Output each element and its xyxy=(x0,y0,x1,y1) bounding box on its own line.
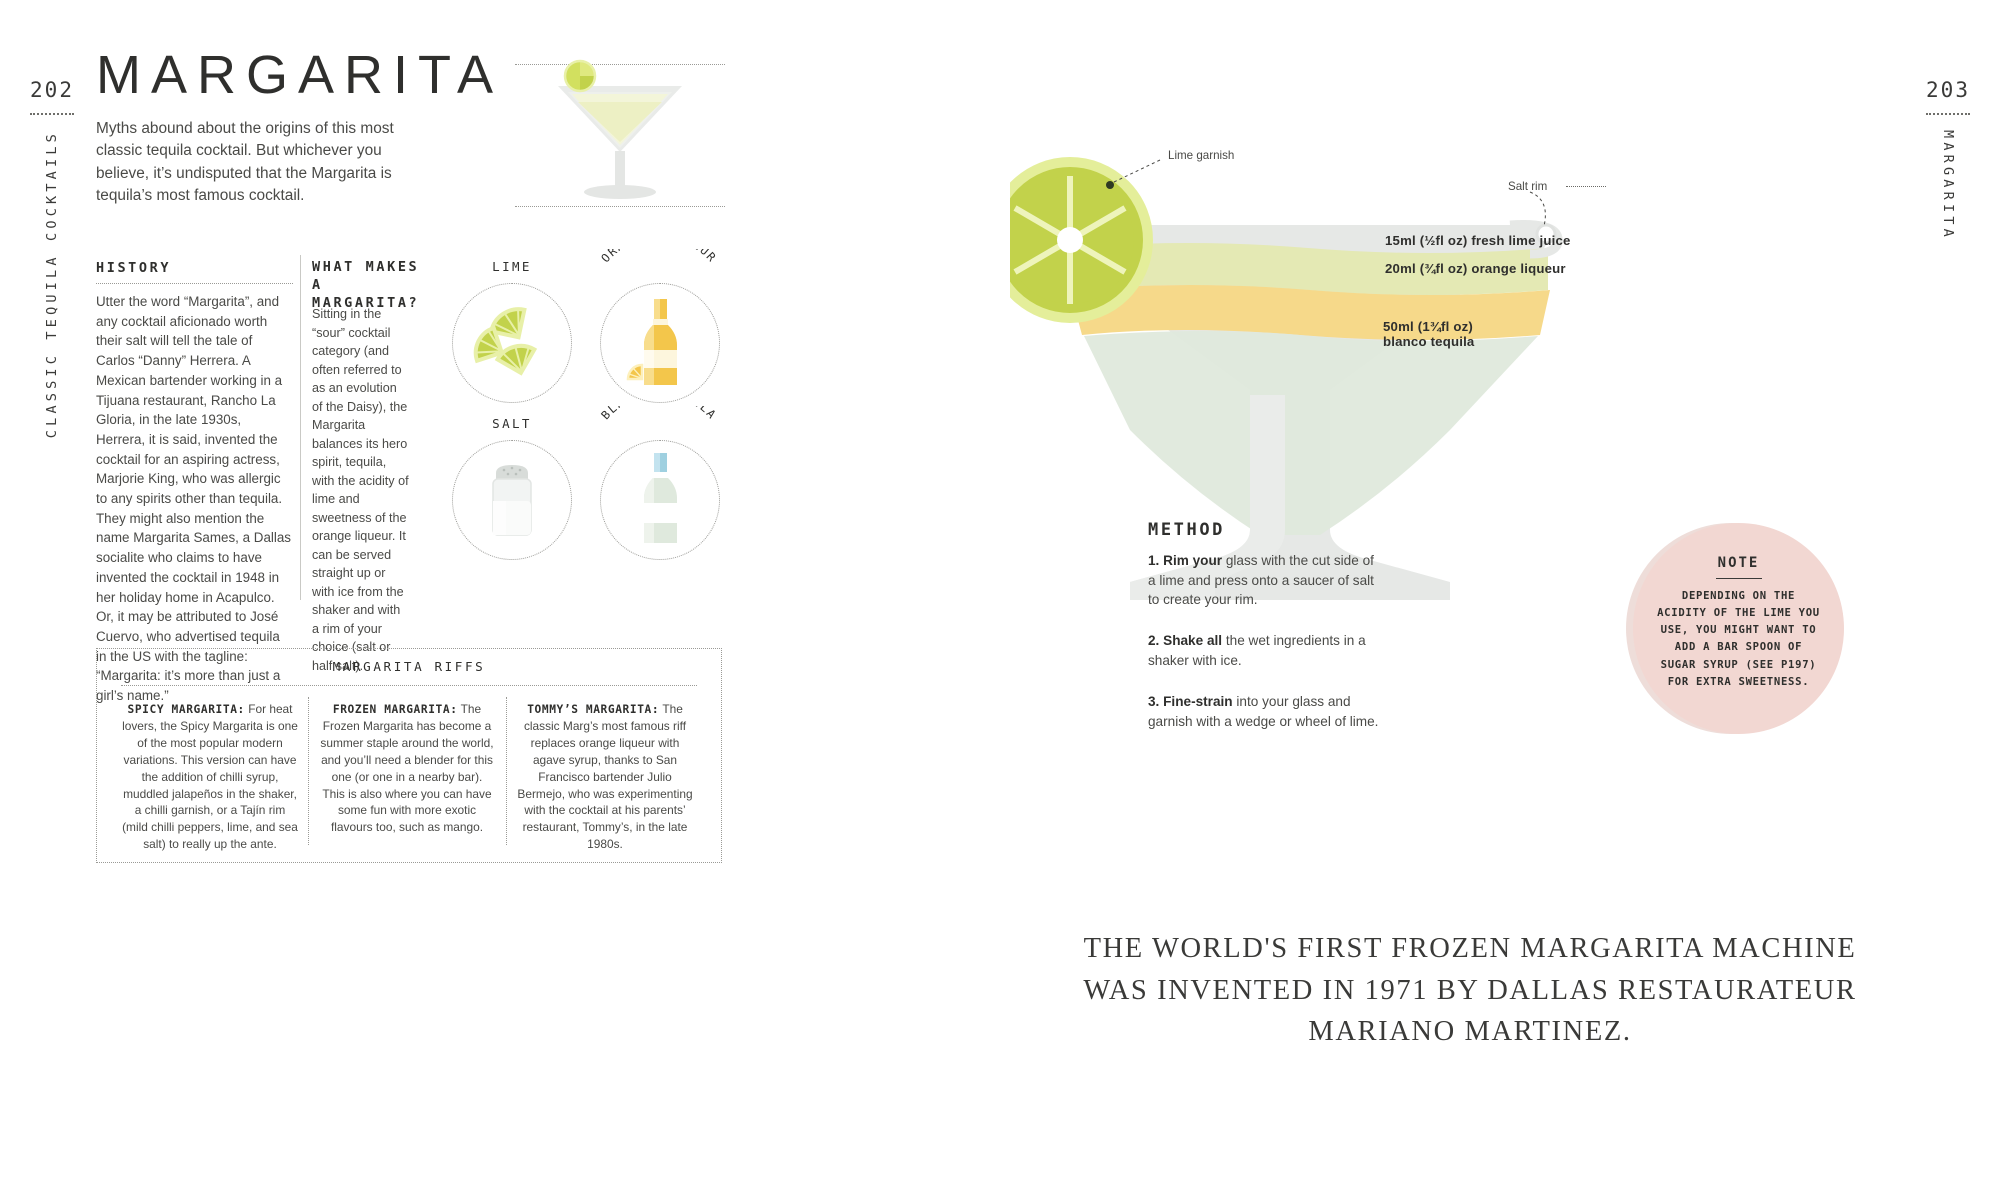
ingredient-orange-liqueur: ORANGE LIQUEUR xyxy=(600,283,720,403)
ingredient-circle-salt xyxy=(452,440,572,560)
svg-text:ORANGE LIQUEUR: ORANGE LIQUEUR xyxy=(598,249,719,265)
ingredient-lime: LIME xyxy=(452,283,572,403)
salt-shaker-icon xyxy=(484,457,540,543)
build-label-orange-liqueur: 20ml (¾fl oz) orange liqueur xyxy=(1385,261,1566,276)
ingredient-label-salt: SALT xyxy=(452,416,572,431)
what-makes-body: Sitting in the “sour” cocktail category … xyxy=(312,305,410,675)
history-rule xyxy=(96,283,293,284)
method-step-2-num: 2. xyxy=(1148,633,1163,648)
callout-salt-rim-leader xyxy=(1566,186,1606,187)
ingredient-salt: SALT xyxy=(452,440,572,560)
what-makes-heading-line1: WHAT MAKES xyxy=(312,258,432,276)
page-number-right: 203 xyxy=(1918,78,1978,102)
ingredient-circle-lime xyxy=(452,283,572,403)
riff-item-spicy: SPICY MARGARITA: For heat lovers, the Sp… xyxy=(122,701,298,853)
chapter-label-text: CLASSIC TEQUILA COCKTAILS xyxy=(44,130,60,438)
book-spread: 202 CLASSIC TEQUILA COCKTAILS MARGARITA … xyxy=(0,0,2000,1195)
running-head-right: MARGARITA xyxy=(1916,130,1980,241)
method-step-1-num: 1. xyxy=(1148,553,1163,568)
riffs-divider-2 xyxy=(506,697,507,845)
riffs-rule xyxy=(121,685,697,686)
page-number-left: 202 xyxy=(22,78,82,102)
note-circle: NOTE DEPENDING ON THE ACIDITY OF THE LIM… xyxy=(1633,523,1844,734)
column-divider xyxy=(300,255,301,600)
riffs-divider-1 xyxy=(308,697,309,845)
build-label-tequila-line1: 50ml (1¾fl oz) xyxy=(1383,319,1473,334)
ingredient-circle-blanco-tequila xyxy=(600,440,720,560)
orange-liqueur-bottle-icon xyxy=(622,295,698,391)
margarita-glass-illustration xyxy=(520,52,720,212)
ingredient-label-lime: LIME xyxy=(452,259,572,274)
intro-paragraph: Myths abound about the origins of this m… xyxy=(96,118,396,207)
running-head-text: MARGARITA xyxy=(1940,130,1956,241)
ingredient-circle-orange-liqueur xyxy=(600,283,720,403)
riff-text-spicy: For heat lovers, the Spicy Margarita is … xyxy=(122,702,298,851)
svg-text:BLANCO TEQUILA: BLANCO TEQUILA xyxy=(598,406,719,422)
chapter-label: CLASSIC TEQUILA COCKTAILS xyxy=(20,130,84,420)
note-body: DEPENDING ON THE ACIDITY OF THE LIME YOU… xyxy=(1656,588,1822,691)
history-body: Utter the word “Margarita”, and any cock… xyxy=(96,292,293,706)
tequila-bottle-icon xyxy=(625,451,695,549)
method-step-2: 2. Shake all the wet ingredients in a sh… xyxy=(1148,631,1380,670)
method-step-3: 3. Fine-strain into your glass and garni… xyxy=(1148,692,1380,731)
callout-salt-rim: Salt rim xyxy=(1508,180,1547,193)
history-heading: HISTORY xyxy=(96,260,171,276)
method-step-3-lead: Fine-strain xyxy=(1163,694,1233,709)
method-step-3-num: 3. xyxy=(1148,694,1163,709)
margarita-riffs-box: MARGARITA RIFFS SPICY MARGARITA: For hea… xyxy=(96,648,722,863)
method-step-2-lead: Shake all xyxy=(1163,633,1222,648)
riff-text-tommys: The classic Marg’s most famous riff repl… xyxy=(517,702,692,851)
riff-text-frozen: The Frozen Margarita has become a summer… xyxy=(320,702,493,834)
method-step-1: 1. Rim your glass with the cut side of a… xyxy=(1148,551,1380,610)
lime-wedges-icon xyxy=(467,300,557,386)
fun-fact-statement: THE WORLD'S FIRST FROZEN MARGARITA MACHI… xyxy=(1060,928,1880,1053)
riffs-title: MARGARITA RIFFS xyxy=(97,659,721,674)
build-label-tequila-line2: blanco tequila xyxy=(1383,334,1474,349)
method-step-1-lead: Rim your xyxy=(1163,553,1222,568)
riff-name-tommys: TOMMY’S MARGARITA: xyxy=(527,703,659,716)
page-title: MARGARITA xyxy=(96,48,503,102)
riff-item-tommys: TOMMY’S MARGARITA: The classic Marg’s mo… xyxy=(517,701,693,853)
riff-name-frozen: FROZEN MARGARITA: xyxy=(333,703,458,716)
method-heading: METHOD xyxy=(1148,520,1225,540)
build-label-lime-juice: 15ml (½fl oz) fresh lime juice xyxy=(1385,233,1571,248)
page-number-rule-left xyxy=(30,113,74,115)
note-underline xyxy=(1716,578,1762,579)
riff-name-spicy: SPICY MARGARITA: xyxy=(128,703,245,716)
ingredient-blanco-tequila: BLANCO TEQUILA xyxy=(600,440,720,560)
note-title: NOTE xyxy=(1718,555,1760,571)
riff-item-frozen: FROZEN MARGARITA: The Frozen Margarita h… xyxy=(319,701,495,836)
page-number-rule-right xyxy=(1926,113,1970,115)
callout-lime-garnish: Lime garnish xyxy=(1168,149,1234,162)
